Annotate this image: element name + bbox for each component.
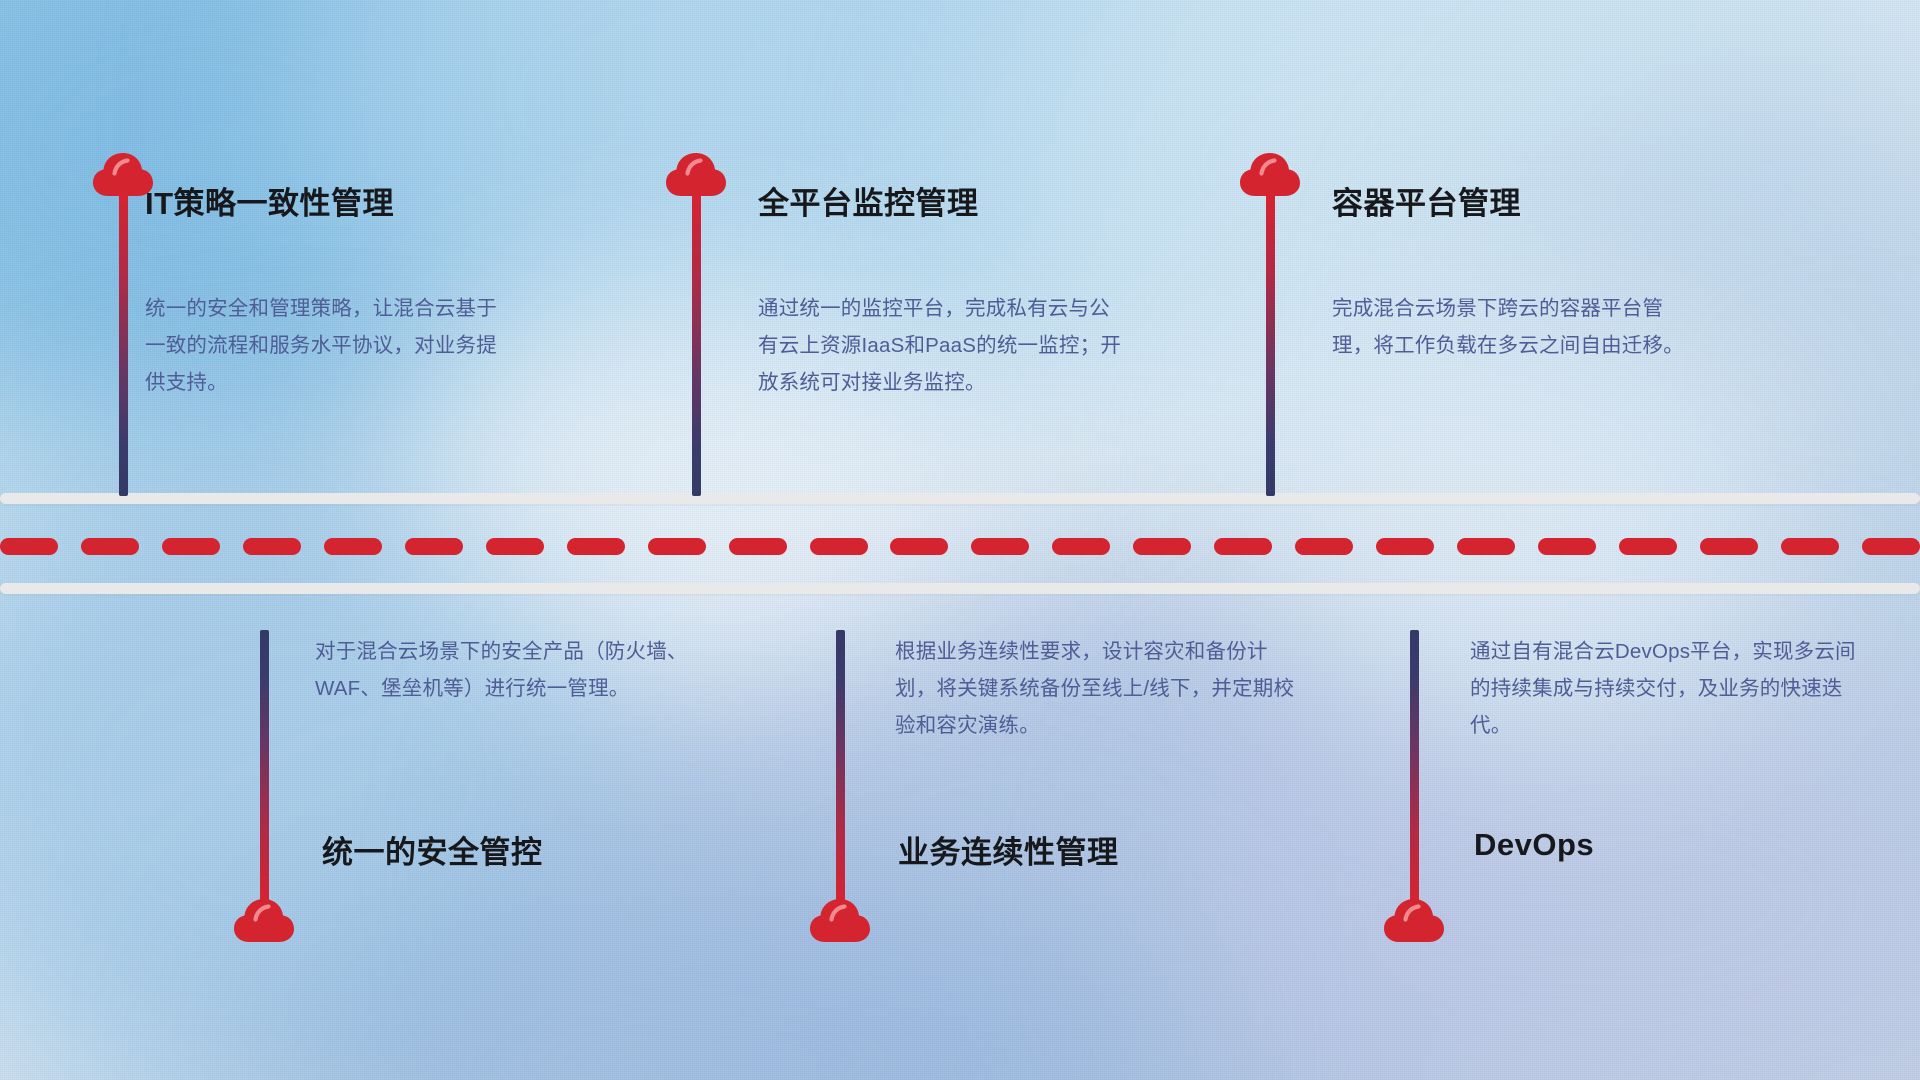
marker-title: IT策略一致性管理 bbox=[145, 178, 394, 223]
marker-title: 统一的安全管控 bbox=[322, 827, 543, 872]
road-dash-segment bbox=[243, 538, 301, 555]
road-dash-segment bbox=[1619, 538, 1677, 555]
cloud-icon bbox=[665, 149, 727, 199]
road-dash-segment bbox=[405, 538, 463, 555]
marker-description: 统一的安全和管理策略，让混合云基于一致的流程和服务水平协议，对业务提供支持。 bbox=[145, 290, 515, 401]
road-dash-segment bbox=[810, 538, 868, 555]
road-dash-segment bbox=[1052, 538, 1110, 555]
road-dash-segment bbox=[1214, 538, 1272, 555]
marker-stem bbox=[119, 192, 128, 496]
road-dash-segment bbox=[81, 538, 139, 555]
road-line-lower bbox=[0, 583, 1920, 594]
road-dash-segment bbox=[486, 538, 544, 555]
road-dash-segment bbox=[0, 538, 58, 555]
road-dash-segment bbox=[971, 538, 1029, 555]
marker-title: 业务连续性管理 bbox=[898, 827, 1119, 872]
road-dash-segment bbox=[1700, 538, 1758, 555]
road-dash-segment bbox=[1133, 538, 1191, 555]
road-dash-segment bbox=[1295, 538, 1353, 555]
marker-description: 通过自有混合云DevOps平台，实现多云间的持续集成与持续交付，及业务的快速迭代… bbox=[1470, 633, 1870, 744]
marker-title: DevOps bbox=[1474, 827, 1594, 863]
road-dash-segment bbox=[1781, 538, 1839, 555]
marker-description: 根据业务连续性要求，设计容灾和备份计划，将关键系统备份至线上/线下，并定期校验和… bbox=[895, 633, 1295, 744]
marker-description: 对于混合云场景下的安全产品（防火墙、WAF、堡垒机等）进行统一管理。 bbox=[315, 633, 715, 707]
road-dash-segment bbox=[1376, 538, 1434, 555]
marker-stem bbox=[1410, 630, 1419, 906]
marker-stem bbox=[692, 192, 701, 496]
marker-stem bbox=[260, 630, 269, 906]
cloud-icon bbox=[809, 895, 871, 945]
road-dashed-center-line bbox=[0, 538, 1920, 555]
marker-stem bbox=[836, 630, 845, 906]
road-dash-segment bbox=[567, 538, 625, 555]
road-dash-segment bbox=[1862, 538, 1920, 555]
marker-description: 完成混合云场景下跨云的容器平台管理，将工作负载在多云之间自由迁移。 bbox=[1332, 290, 1702, 364]
road-line-upper bbox=[0, 493, 1920, 504]
marker-title: 容器平台管理 bbox=[1332, 178, 1521, 223]
road-dash-segment bbox=[890, 538, 948, 555]
road-dash-segment bbox=[324, 538, 382, 555]
road-dash-segment bbox=[162, 538, 220, 555]
cloud-icon bbox=[1383, 895, 1445, 945]
marker-description: 通过统一的监控平台，完成私有云与公有云上资源IaaS和PaaS的统一监控；开放系… bbox=[758, 290, 1128, 401]
cloud-icon bbox=[1239, 149, 1301, 199]
road-dash-segment bbox=[1538, 538, 1596, 555]
infographic-canvas: IT策略一致性管理 统一的安全和管理策略，让混合云基于一致的流程和服务水平协议，… bbox=[0, 0, 1920, 1080]
cloud-icon bbox=[233, 895, 295, 945]
road-dash-segment bbox=[648, 538, 706, 555]
marker-title: 全平台监控管理 bbox=[758, 178, 979, 223]
marker-stem bbox=[1266, 192, 1275, 496]
road-dash-segment bbox=[729, 538, 787, 555]
road-dash-segment bbox=[1457, 538, 1515, 555]
